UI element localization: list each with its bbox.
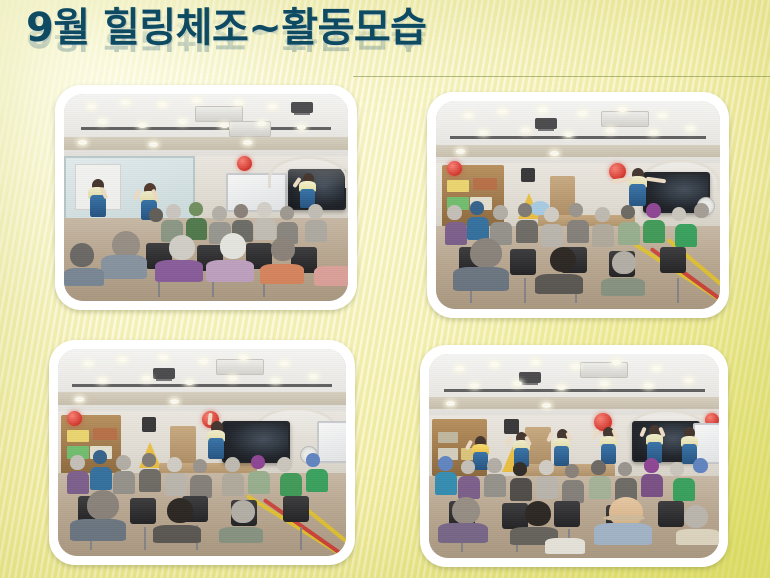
photo-frame-bottom-right[interactable]	[420, 345, 728, 567]
photo-image-bottom-right	[429, 354, 719, 558]
photo-frame-top-right[interactable]	[427, 92, 729, 318]
photo-frame-top-left[interactable]	[55, 85, 357, 310]
photo-image-top-left	[64, 94, 348, 301]
title-underline-rule	[353, 76, 770, 77]
photo-image-top-right	[436, 101, 720, 309]
slide-canvas: 9월 힐링체조~활동모습 9월 힐링체조~활동모습	[0, 0, 770, 578]
photo-image-bottom-left	[58, 349, 346, 556]
photo-frame-bottom-left[interactable]	[49, 340, 355, 565]
